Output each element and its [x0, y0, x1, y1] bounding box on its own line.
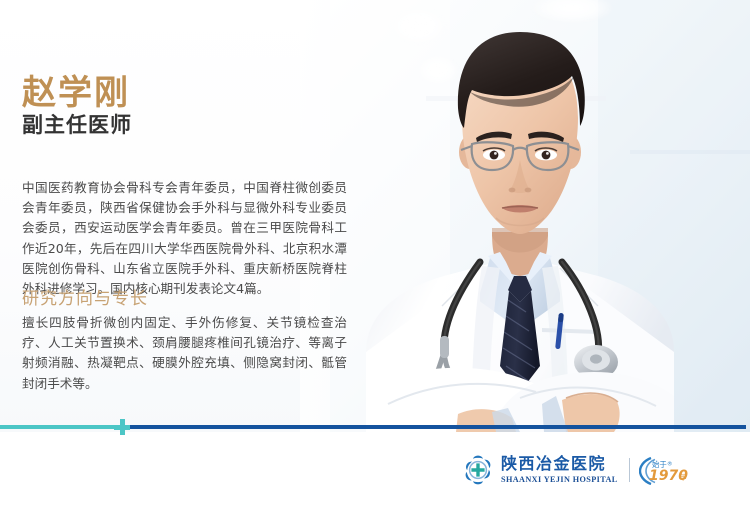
section-heading-specialty: 研究方向与专长: [22, 288, 148, 310]
doctor-photo: [330, 0, 750, 432]
established-badge: 始于 ® 1970 年: [639, 455, 691, 485]
hospital-name-cn: 陕西冶金医院: [501, 455, 618, 473]
doctor-specialty: 擅长四肢骨折微创内固定、手外伤修复、关节镜检查治疗、人工关节置换术、颈肩腰腿疼椎…: [22, 313, 347, 394]
doctor-profile-card: 赵学刚 副主任医师 中国医药教育协会骨科专会青年委员，中国脊柱微创委员会青年委员…: [0, 0, 750, 529]
hospital-name-en: SHAANXI YEJIN HOSPITAL: [501, 474, 618, 485]
doctor-title: 副主任医师: [22, 112, 132, 138]
divider-teal-segment: [0, 425, 116, 429]
hospital-footer: 陕西冶金医院 SHAANXI YEJIN HOSPITAL 始于 ® 1970 …: [462, 450, 691, 490]
established-mark: ®: [667, 461, 672, 468]
doctor-bio: 中国医药教育协会骨科专会青年委员，中国脊柱微创委员会青年委员，陕西省保健协会手外…: [22, 178, 347, 299]
hospital-logo-icon: [462, 454, 494, 486]
plus-icon: [114, 419, 130, 435]
footer-separator: [629, 458, 630, 482]
established-suffix-text: 年: [679, 473, 687, 482]
doctor-name: 赵学刚: [22, 74, 130, 112]
divider-navy-segment: [130, 425, 746, 429]
